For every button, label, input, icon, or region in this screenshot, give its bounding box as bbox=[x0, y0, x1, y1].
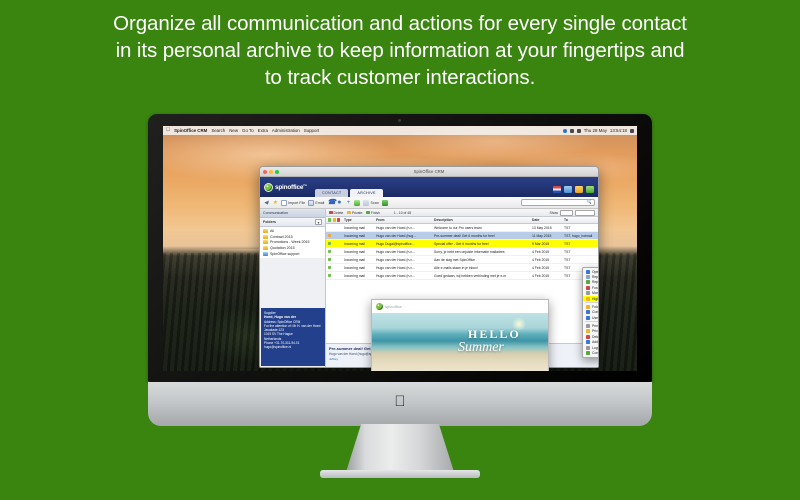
row-to: TST bbox=[562, 226, 598, 230]
row-flags bbox=[326, 266, 342, 269]
forward-icon bbox=[586, 286, 590, 290]
contact-email[interactable]: hugo@spinoffice.nl bbox=[264, 345, 322, 349]
row-flags bbox=[326, 274, 342, 277]
table-row[interactable]: Incoming mail Hugo van der Hoed (h.v... … bbox=[326, 272, 598, 280]
row-type: Incoming mail bbox=[342, 234, 374, 238]
star-icon[interactable]: ★ bbox=[272, 200, 278, 206]
context-menu-label: Reply to all bbox=[592, 280, 599, 284]
row-to: TST bbox=[562, 242, 598, 246]
context-menu-label: Folder link bbox=[592, 305, 599, 309]
wifi-icon[interactable] bbox=[563, 129, 567, 133]
context-menu-label: Open bbox=[592, 270, 599, 274]
context-menu-label: Contact link bbox=[592, 310, 599, 314]
header-icon-group[interactable] bbox=[553, 186, 598, 197]
row-description: Welcome to our Pro users team bbox=[432, 226, 530, 230]
menu-bar-time: 13:54:18 bbox=[610, 128, 627, 133]
show-label: Show bbox=[550, 211, 558, 215]
scan-button[interactable]: Scan bbox=[363, 200, 378, 206]
context-menu-item-user-link[interactable]: User link bbox=[583, 315, 599, 320]
row-flags bbox=[326, 242, 342, 245]
user-link-icon bbox=[586, 316, 590, 320]
delete-filter-button[interactable]: Delete bbox=[329, 211, 343, 215]
context-menu-item-convert-to-task[interactable]: Convert to task bbox=[583, 350, 599, 355]
reply-icon bbox=[586, 275, 590, 279]
show-controls[interactable]: Show bbox=[550, 210, 595, 216]
column-flags bbox=[326, 218, 342, 221]
marketing-headline: Organize all communication and actions f… bbox=[0, 10, 800, 91]
row-date: 4 Feb 2015 bbox=[530, 266, 562, 270]
context-menu-label: Convert to task bbox=[592, 351, 599, 355]
row-flags bbox=[326, 258, 342, 261]
headline-line-1: Organize all communication and actions f… bbox=[0, 10, 800, 37]
grid-icon[interactable] bbox=[586, 186, 594, 193]
highlight-icon bbox=[586, 297, 590, 301]
flag-icon[interactable] bbox=[553, 186, 561, 193]
bluetooth-icon[interactable] bbox=[570, 129, 574, 133]
row-from: Hugo van der Hoed (h.v... bbox=[374, 250, 432, 254]
menu-divider bbox=[585, 302, 599, 303]
folder-list[interactable]: All Contract 2015 Promotions - Week 2015 bbox=[260, 227, 325, 258]
row-type: Incoming mail bbox=[342, 226, 374, 230]
imac-device:  SpinOffice CRM Search New Go To Extra … bbox=[148, 114, 652, 500]
scanner-icon bbox=[363, 200, 369, 206]
apple-logo-icon:  bbox=[394, 394, 405, 409]
context-menu-label: User link bbox=[592, 316, 599, 320]
folder-label: All bbox=[270, 229, 274, 233]
spotlight-icon[interactable] bbox=[630, 129, 634, 133]
email-button[interactable]: Email bbox=[308, 200, 324, 206]
context-menu-label: Mark as unread bbox=[592, 291, 599, 295]
import-file-label: Import File bbox=[288, 201, 305, 205]
attachment-icon bbox=[328, 258, 331, 261]
folder-label: Promotions - Week 2015 bbox=[270, 240, 309, 244]
row-from: Hugo van der Hoed (h.v... bbox=[374, 258, 432, 262]
tab-archive[interactable]: ARCHIVE bbox=[350, 189, 382, 197]
row-date: 4 Feb 2015 bbox=[530, 258, 562, 262]
lock-icon bbox=[347, 211, 351, 215]
row-description: Special offer - Get 6 months for free! bbox=[432, 242, 530, 246]
logs-icon bbox=[586, 346, 590, 350]
context-menu-label: Reply bbox=[592, 275, 599, 279]
import-file-button[interactable]: Import File bbox=[281, 200, 305, 206]
window-title: SpinOffice CRM bbox=[260, 169, 598, 174]
column-type[interactable]: Type bbox=[342, 218, 374, 222]
column-description[interactable]: Description bbox=[432, 218, 530, 222]
row-type: Incoming mail bbox=[342, 250, 374, 254]
attachment-icon bbox=[328, 266, 331, 269]
table-row[interactable]: Incoming mail Hugo van der Hoed (h.v... … bbox=[326, 264, 598, 272]
sidebar-panel-title: Communication bbox=[260, 209, 325, 218]
delete-icon bbox=[329, 211, 333, 215]
menu-item-app-name[interactable]: SpinOffice CRM bbox=[174, 128, 207, 133]
row-description: Pre-summer deal! Get 6 months for free! bbox=[432, 234, 530, 238]
open-icon bbox=[586, 270, 590, 274]
back-arrow-icon[interactable]: ◀ bbox=[263, 200, 269, 206]
record-range: 1 - 10 of 48 bbox=[394, 211, 411, 215]
person-button[interactable]: ● bbox=[336, 200, 342, 206]
row-description: Alle e-mails staan in je inbox! bbox=[432, 266, 530, 270]
menu-item-extra[interactable]: Extra bbox=[258, 128, 268, 133]
row-date: 11 May 2015 bbox=[530, 234, 562, 238]
row-description: Goed gedaan, wij hebben verbinding met j… bbox=[432, 274, 530, 278]
flag-icon bbox=[328, 234, 331, 237]
context-menu-label: Logs bbox=[592, 346, 599, 350]
phone-button[interactable]: ☎ bbox=[327, 200, 333, 206]
folder-icon bbox=[263, 246, 268, 250]
menu-bar-status[interactable]: Thu 28 May 13:54:18 bbox=[563, 128, 634, 133]
mac-menu-bar[interactable]:  SpinOffice CRM Search New Go To Extra … bbox=[163, 126, 637, 135]
apple-menu-icon[interactable]:  bbox=[166, 128, 170, 134]
back-button[interactable]: ◀ bbox=[263, 200, 269, 206]
display-bezel:  SpinOffice CRM Search New Go To Extra … bbox=[148, 114, 652, 382]
email-popup-brand: spinoffice bbox=[385, 304, 402, 309]
brand-name: spinofficePro bbox=[275, 183, 307, 191]
unread-icon bbox=[586, 291, 590, 295]
contact-card[interactable]: Supplier Hoed, Hugo van der Address: Spi… bbox=[261, 308, 325, 366]
context-menu-item-highlight[interactable]: Highlight bbox=[583, 296, 599, 301]
row-from: Hugo van der Hoed (h.v... bbox=[374, 266, 432, 270]
plus-icon[interactable]: + bbox=[345, 200, 351, 206]
context-menu-label: Private bbox=[592, 329, 599, 333]
table-row[interactable]: Incoming mail Hugo van der Hoed (hug... … bbox=[326, 232, 598, 240]
context-menu-label: Forward bbox=[592, 286, 599, 290]
context-menu-label: Print message bbox=[592, 324, 599, 328]
app-brand: spinofficePro bbox=[260, 183, 311, 197]
table-row[interactable]: Incoming mail Hugo van der Hoed (h.v... … bbox=[326, 248, 598, 256]
task-icon bbox=[586, 351, 590, 355]
search-input[interactable]: 🔍 bbox=[521, 199, 595, 207]
folder-icon bbox=[263, 235, 268, 239]
folder-label: Contract 2015 bbox=[270, 235, 293, 239]
tab-contact[interactable]: CONTACT bbox=[315, 189, 348, 197]
battery-icon[interactable] bbox=[577, 129, 581, 133]
private-filter-button[interactable]: Private bbox=[347, 211, 362, 215]
email-preview-popup[interactable]: spinoffice HELLO Summer bbox=[371, 299, 549, 371]
envelope-icon bbox=[308, 200, 314, 206]
export-excel-button[interactable] bbox=[382, 200, 388, 206]
folders-title: Folders bbox=[263, 220, 276, 224]
checklist-icon[interactable] bbox=[354, 200, 360, 206]
row-date: 4 Feb 2015 bbox=[530, 274, 562, 278]
sidebar[interactable]: Communication Folders ▾ All bbox=[260, 209, 326, 367]
show-count-select[interactable] bbox=[560, 210, 573, 216]
imac-chin:  bbox=[148, 382, 652, 426]
email-label: Email bbox=[315, 201, 324, 205]
folder-label: SpinOffice support bbox=[270, 252, 300, 256]
chevron-down-icon[interactable]: ▾ bbox=[315, 219, 322, 225]
email-hero-image: HELLO Summer bbox=[372, 313, 548, 371]
private-icon bbox=[586, 329, 590, 333]
row-type: Incoming mail bbox=[342, 242, 374, 246]
private-label: Private bbox=[352, 211, 363, 215]
folder-label: Quotation 2015 bbox=[270, 246, 295, 250]
row-date: 4 Feb 2015 bbox=[530, 250, 562, 254]
task-button[interactable] bbox=[354, 200, 360, 206]
folder-link-icon bbox=[586, 305, 590, 309]
row-from: Hugo van der Hoed (hug... bbox=[374, 234, 432, 238]
headline-line-3: to track customer interactions. bbox=[0, 64, 800, 91]
email-popup-header: spinoffice bbox=[372, 300, 548, 313]
facetime-camera-icon bbox=[398, 119, 401, 122]
table-header[interactable]: Type From Description Date To bbox=[326, 217, 598, 224]
add-button[interactable]: + bbox=[345, 200, 351, 206]
person-icon[interactable]: ● bbox=[336, 200, 342, 206]
app-tabs[interactable]: CONTACT ARCHIVE bbox=[315, 189, 383, 197]
row-date: 13 May 2015 bbox=[530, 226, 562, 230]
row-to: TST bbox=[562, 258, 598, 262]
menu-item-goto[interactable]: Go To bbox=[242, 128, 254, 133]
folder-icon[interactable] bbox=[575, 186, 583, 193]
attachment-icon bbox=[328, 242, 331, 245]
attachment-icon bbox=[328, 274, 331, 277]
context-menu-label: Delete bbox=[592, 335, 599, 339]
finish-filter-button[interactable]: Finish bbox=[366, 211, 380, 215]
menu-item-search[interactable]: Search bbox=[211, 128, 225, 133]
filter-bar[interactable]: Delete Private Finish 1 - 10 of 48 bbox=[326, 209, 598, 217]
folder-icon bbox=[263, 240, 268, 244]
delete-label: Delete bbox=[334, 211, 344, 215]
window-titlebar[interactable]: SpinOffice CRM bbox=[260, 167, 598, 177]
menu-item-administration[interactable]: Administration bbox=[272, 128, 300, 133]
folder-blue-icon bbox=[263, 252, 268, 256]
row-flags bbox=[326, 250, 342, 253]
row-description: Aan de slag met SpinOffice bbox=[432, 258, 530, 262]
email-hero-line-2: Summer bbox=[458, 340, 504, 356]
scan-label: Scan bbox=[371, 201, 379, 205]
window-icon[interactable] bbox=[564, 186, 572, 193]
reply-all-icon bbox=[586, 280, 590, 284]
column-to[interactable]: To bbox=[562, 218, 598, 222]
search-icon[interactable]: 🔍 bbox=[586, 200, 592, 205]
check-icon bbox=[366, 211, 370, 215]
table-row[interactable]: Incoming mail Hugo Dugal@spinoffice... S… bbox=[326, 240, 598, 248]
row-flags bbox=[326, 234, 342, 237]
row-description: Sorry, je hebt een onjuiste informatie m… bbox=[432, 250, 530, 254]
row-from: Hugo van der Hoed (h.v... bbox=[374, 274, 432, 278]
menu-item-new[interactable]: New bbox=[229, 128, 238, 133]
row-type: Incoming mail bbox=[342, 266, 374, 270]
delete-icon bbox=[586, 335, 590, 339]
attachment-icon bbox=[328, 250, 331, 253]
print-icon bbox=[586, 324, 590, 328]
filter-select[interactable] bbox=[575, 210, 595, 216]
headline-line-2: in its personal archive to keep informat… bbox=[0, 37, 800, 64]
context-menu-label: Add note bbox=[592, 340, 599, 344]
sidebar-item-spinoffice-support[interactable]: SpinOffice support bbox=[260, 251, 325, 257]
app-toolbar[interactable]: ◀ ★ Import File Email ☎ ● + bbox=[260, 197, 598, 209]
menu-divider bbox=[585, 321, 599, 322]
phone-icon[interactable]: ☎ bbox=[327, 200, 333, 206]
row-from: Hugo van der Hoed (h.v... bbox=[374, 226, 432, 230]
row-from: Hugo Dugal@spinoffice... bbox=[374, 242, 432, 246]
flag-icon bbox=[337, 218, 340, 221]
contact-name: Hoed, Hugo van der bbox=[264, 315, 296, 319]
menu-bar-date: Thu 28 May bbox=[584, 128, 607, 133]
favorite-button[interactable]: ★ bbox=[272, 200, 278, 206]
folder-icon bbox=[263, 229, 268, 233]
imac-stand-foot bbox=[320, 470, 480, 478]
contact-link-icon bbox=[586, 310, 590, 314]
row-to: TST, hugo_hotmail bbox=[562, 234, 598, 238]
spinoffice-logo-icon bbox=[264, 183, 273, 192]
lock-icon bbox=[333, 218, 336, 221]
table-row[interactable]: Incoming mail Hugo van der Hoed (h.v... … bbox=[326, 256, 598, 264]
note-icon bbox=[586, 340, 590, 344]
finish-label: Finish bbox=[371, 211, 380, 215]
row-type: Incoming mail bbox=[342, 258, 374, 262]
row-type: Incoming mail bbox=[342, 274, 374, 278]
imac-stand-neck bbox=[346, 424, 454, 472]
row-to: TST bbox=[562, 250, 598, 254]
folders-header[interactable]: Folders ▾ bbox=[260, 218, 325, 227]
attachment-icon bbox=[328, 218, 331, 221]
context-menu[interactable]: Open Reply Reply to all Forward Mark as … bbox=[582, 267, 599, 358]
display-screen:  SpinOffice CRM Search New Go To Extra … bbox=[163, 126, 637, 371]
table-row[interactable]: Incoming mail Hugo van der Hoed (h.v... … bbox=[326, 224, 598, 232]
column-date[interactable]: Date bbox=[530, 218, 562, 222]
spinoffice-logo-icon bbox=[376, 303, 383, 310]
app-header: spinofficePro CONTACT ARCHIVE bbox=[260, 177, 598, 197]
row-date: 9 Mar 2015 bbox=[530, 242, 562, 246]
column-from[interactable]: From bbox=[374, 218, 432, 222]
spreadsheet-icon[interactable] bbox=[382, 200, 388, 206]
menu-item-support[interactable]: Support bbox=[304, 128, 319, 133]
document-icon bbox=[281, 200, 287, 206]
context-menu-label: Highlight bbox=[592, 297, 599, 301]
